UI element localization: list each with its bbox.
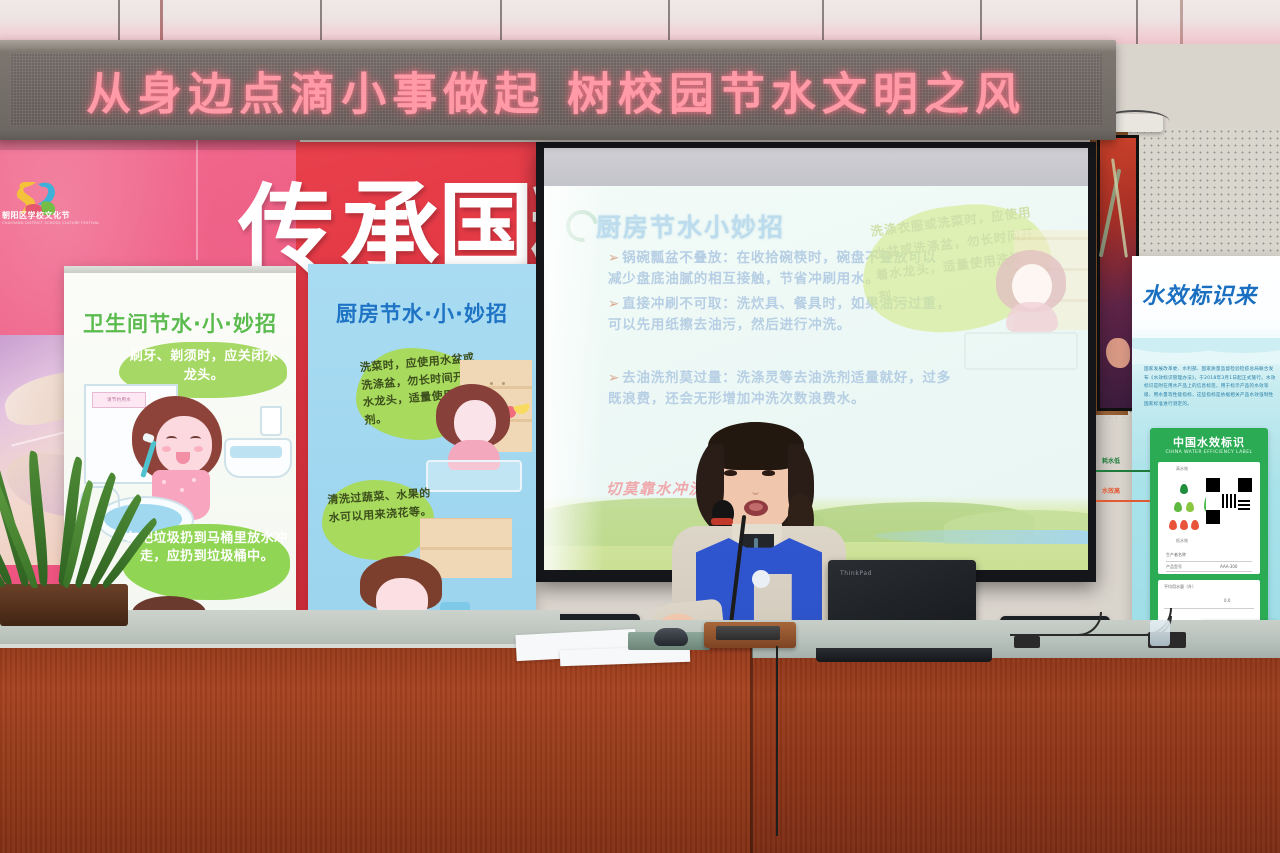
laptop-keyboard-base[interactable] [816, 648, 992, 662]
laptop-cable [740, 646, 778, 836]
laptop-brand-label: ThinkPad [840, 570, 872, 577]
slide-bullet-3: ➢去油洗剂莫过量：洗涤灵等去油洗剂适量就好，过多既浪费，还会无形增加冲洗次数浪费… [608, 368, 953, 410]
field-model-label: 产品型号 [1166, 564, 1182, 570]
kitchen-sink-illustration [426, 460, 522, 492]
field-model-value: AAA-300 [1220, 564, 1237, 569]
toothbrush-cup-illustration [260, 406, 282, 436]
power-plug-2 [1014, 636, 1040, 648]
annotation-bottom-text: 水效高 [1102, 486, 1120, 495]
annotation-arrow-bottom [1096, 500, 1150, 502]
bathroom-bubble-2-text: 勿把垃圾扔到马桶里放水冲走，应扔到垃圾桶中。 [126, 530, 288, 567]
field-producer-label: 生产者名称 [1166, 552, 1186, 558]
led-matrix-panel: 从身边点滴小事做起 树校园节水文明之风 [10, 53, 1102, 126]
bathroom-bubble-1-text: 刷牙、剃须时，应关闭水龙头。 [124, 348, 284, 386]
bathtub-illustration [224, 438, 292, 478]
screen-blank-area [544, 148, 1088, 188]
poster-paragraph: 国家发展改革委、水利部、国家质量监督检验检疫总局联合发布《水效标识管理办法》，于… [1144, 366, 1276, 410]
slide-girl-illustration [996, 250, 1066, 336]
card-label-top: 高水效 [1176, 466, 1188, 472]
card-label-bottom: 低水效 [1176, 538, 1188, 544]
kitchen-bubble-2-text: 清洗过蔬菜、水果的水可以用来浇花等。 [327, 484, 433, 527]
card-title: 中国水效标识 [1150, 434, 1268, 450]
annotation-top-text: 耗水低 [1102, 456, 1120, 465]
woman-washing-illustration [436, 384, 510, 470]
bullet-marker-icon: ➢ [608, 296, 620, 312]
field-volume-label: 平均用水量（升） [1164, 584, 1196, 590]
poster-wave-decoration [1132, 338, 1280, 364]
festival-caption-en: CHAOYANG DISTRICT SCHOOL CULTURE FESTIVA… [2, 221, 92, 225]
bullet-marker-icon: ➢ [608, 250, 620, 266]
wall-artwork [1100, 138, 1136, 408]
banner-kitchen-title: 厨房节水·小·妙招 [308, 298, 536, 328]
water-bottle[interactable] [1150, 620, 1170, 646]
desk-front-panel-left [0, 648, 752, 853]
poster-water-efficiency-label: 水效标识来 国家发展改革委、水利部、国家质量监督检验检疫总局联合发布《水效标识管… [1132, 256, 1280, 640]
festival-caption: 朝阳区学校文化节 [2, 210, 78, 221]
vest-badge [752, 570, 770, 588]
slide-sink-illustration [964, 332, 1078, 370]
banner-bathroom-title: 卫生间节水·小·妙招 [64, 308, 296, 338]
led-indicator-dot [959, 111, 962, 114]
bullet-marker-icon: ➢ [608, 370, 620, 386]
slide-title: 厨房节水小妙招 [596, 208, 785, 244]
slide-bullet-3-text: 去油洗剂莫过量：洗涤灵等去油洗剂适量就好，过多既浪费，还会无形增加冲洗次数浪费水… [608, 370, 951, 407]
field-volume-value: 0.0 [1224, 598, 1230, 603]
water-efficiency-card: 中国水效标识 CHINA WATER EFFICIENCY LABEL 高水效 … [1150, 428, 1268, 628]
card-title-en: CHINA WATER EFFICIENCY LABEL [1150, 450, 1268, 455]
led-banner-text: 从身边点滴小事做起 树校园节水文明之风 [10, 57, 1102, 122]
calligraphy-char-2: 承 [340, 178, 440, 278]
banner-kitchen: 厨房节水·小·妙招 洗菜时，应使用水盆或洗涤盆，勿长时间开着水龙头，适量使用洗涤… [308, 264, 536, 640]
led-scrolling-banner: 从身边点滴小事做起 树校园节水文明之风 [0, 40, 1116, 140]
lecture-hall-photo: 朝阳区学校文化节 CHAOYANG DISTRICT SCHOOL CULTUR… [0, 0, 1280, 853]
calligraphy-char-3: 国 [438, 180, 534, 276]
plant-pot [0, 584, 128, 626]
computer-mouse[interactable] [654, 628, 688, 646]
poster-title: 水效标识来 [1142, 278, 1257, 310]
annotation-arrow-top [1096, 470, 1150, 472]
qr-code [1206, 478, 1252, 524]
